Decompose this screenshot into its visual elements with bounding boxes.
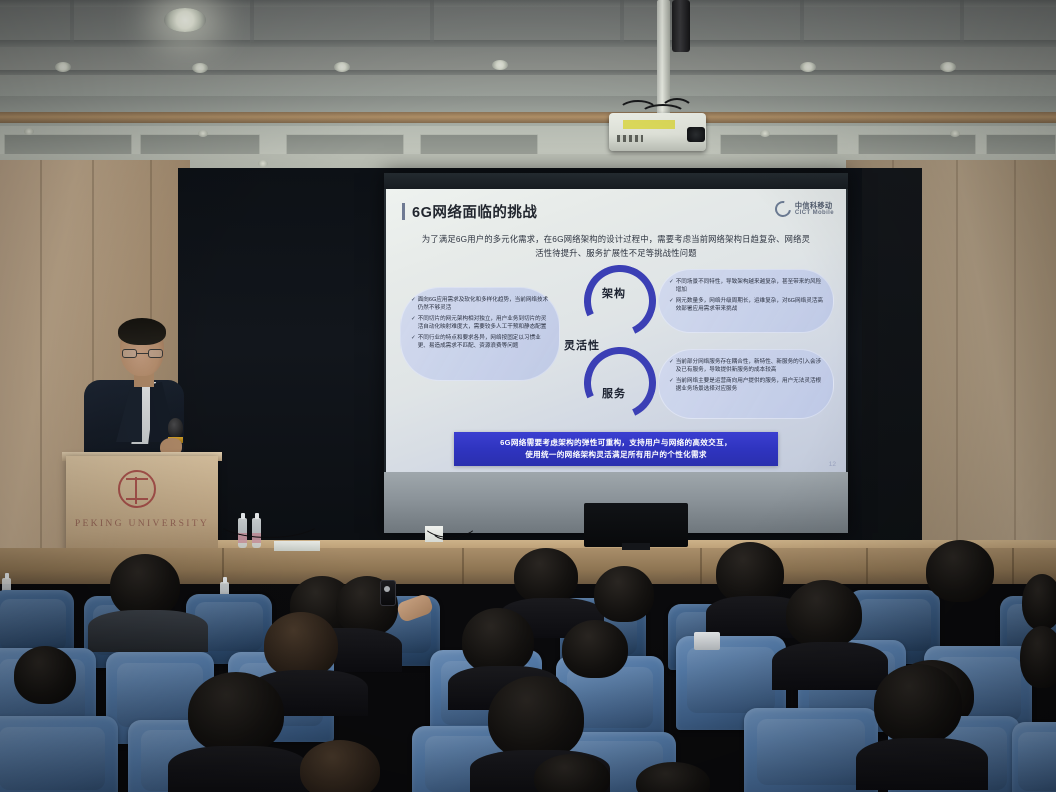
- lecture-hall-photo: 6G网络面临的挑战 中信科移动 CICT Mobile 为了满足6G用户的多元化…: [0, 0, 1056, 792]
- projection-screen: 6G网络面临的挑战 中信科移动 CICT Mobile 为了满足6G用户的多元化…: [384, 173, 848, 533]
- audience-shoulders: [168, 746, 308, 792]
- speaker-glasses: [122, 349, 163, 358]
- logo-text-en: CICT Mobile: [795, 210, 834, 216]
- audience-head: [462, 608, 534, 674]
- ceiling-light: [55, 62, 71, 72]
- audience-head: [926, 540, 994, 602]
- logo-text: 中信科移动 CICT Mobile: [795, 202, 834, 216]
- bubble-point-text: 不同切片的网元架构相对独立，用户业务到切片的灵活自动化映射难度大，需要较多人工干…: [418, 315, 549, 332]
- projector-lens: [687, 127, 705, 142]
- flexibility-cycle-diagram: 架构 灵活性 服务: [562, 261, 674, 429]
- check-icon: ✓: [411, 315, 416, 332]
- stage-backdrop-right: [862, 168, 922, 560]
- audience-head: [14, 646, 76, 704]
- wall-fixture: [258, 160, 268, 167]
- bubble-point-text: 当前网络主要是运营商向用户提供的服务，用户无法灵活根据业务场景选择对应服务: [676, 377, 823, 394]
- audience-head: [188, 672, 284, 754]
- smartphone[interactable]: [380, 580, 396, 606]
- podium: PEKING UNIVERSITY: [66, 456, 218, 554]
- diagram-label-service: 服务: [602, 385, 626, 401]
- wall-fixture: [198, 130, 208, 137]
- bubble-right-bottom: ✓当前部分网络服务存在耦合性，新特性、新服务的引入会涉及已有服务，导致提供新服务…: [658, 349, 834, 419]
- audience-head: [874, 664, 962, 744]
- check-icon: ✓: [411, 296, 416, 313]
- wall-fixture: [760, 130, 770, 137]
- audience-head: [594, 566, 654, 622]
- audience-head: [110, 554, 180, 618]
- bubble-point: ✓面向6G应用需求及软化和多样化趋势，当前网络技术仍然不够灵活: [411, 296, 549, 313]
- audience-head: [636, 762, 710, 792]
- podium-label: PEKING UNIVERSITY: [66, 518, 218, 529]
- slide-title: 6G网络面临的挑战: [412, 201, 537, 222]
- audience-shoulders: [856, 738, 988, 790]
- speaker-hair: [118, 318, 166, 345]
- papers-on-table: [274, 541, 320, 551]
- audience-head: [300, 740, 380, 792]
- bubble-point: ✓当前网络主要是运营商向用户提供的服务，用户无法灵活根据业务场景选择对应服务: [669, 377, 823, 394]
- wall-fixture: [950, 130, 960, 137]
- bubble-point: ✓网元数量多，网络升级周期长，运维复杂，对6G网络灵活高效部署应用需求带来挑战: [669, 297, 823, 314]
- projector-cable: [660, 98, 694, 124]
- audience-head: [562, 620, 628, 678]
- laptop-screen[interactable]: [694, 632, 720, 650]
- microphone-head: [168, 418, 183, 437]
- slide-subtitle: 为了满足6G用户的多元化需求，在6G网络架构的设计过程中，需要考虑当前网络架构日…: [420, 233, 812, 260]
- banner-line-1: 6G网络需要考虑架构的弹性可重构，支持用户与网络的高效交互，: [500, 437, 732, 449]
- audience-head: [716, 542, 784, 604]
- ceiling-light: [800, 62, 816, 72]
- auditorium-seat: [0, 716, 118, 792]
- audio-cable: [214, 498, 324, 538]
- screen-top-bar: [384, 173, 848, 189]
- wood-trim: [0, 112, 1056, 123]
- ceiling-light: [192, 63, 208, 73]
- projector-vent: [617, 135, 643, 142]
- bubble-point: ✓不同场景不同特性，导致架构越来越复杂，甚至带来的风险增加: [669, 278, 823, 295]
- slide-title-area: 6G网络面临的挑战: [402, 201, 537, 222]
- audio-cable: [430, 514, 464, 540]
- bubble-point-text: 面向6G应用需求及软化和多样化趋势，当前网络技术仍然不够灵活: [418, 296, 549, 313]
- presentation-slide: 6G网络面临的挑战 中信科移动 CICT Mobile 为了满足6G用户的多元化…: [386, 189, 846, 472]
- audience-head: [488, 676, 584, 760]
- ceiling-light: [940, 62, 956, 72]
- diagram-label-architecture: 架构: [602, 285, 626, 301]
- ceiling-light: [492, 60, 508, 70]
- audience-head: [264, 612, 338, 678]
- bubble-point-text: 不同行业的特点和要求各异，网络按固定以习惯业更、易造成需求不匹配、资源浪费等问题: [418, 334, 549, 351]
- ceiling: [0, 0, 1056, 96]
- bubble-point: ✓当前部分网络服务存在耦合性，新特性、新服务的引入会涉及已有服务，导致提供新服务…: [669, 358, 823, 375]
- audience-head: [786, 580, 862, 648]
- slide-page-number: 12: [829, 461, 836, 468]
- title-accent-bar: [402, 203, 405, 220]
- ceiling-light: [164, 8, 206, 32]
- slide-conclusion-banner: 6G网络需要考虑架构的弹性可重构，支持用户与网络的高效交互， 使用统一的网络架构…: [454, 432, 778, 466]
- audience-shoulders: [772, 642, 888, 690]
- monitor-stand: [622, 543, 650, 550]
- bubble-point: ✓不同切片的网元架构相对独立，用户业务到切片的灵活自动化映射难度大，需要较多人工…: [411, 315, 549, 332]
- bubble-point-text: 网元数量多，网络升级周期长，运维复杂，对6G网络灵活高效部署应用需求带来挑战: [676, 297, 823, 314]
- ceiling-light: [334, 62, 350, 72]
- audience-head: [1022, 574, 1056, 630]
- ceiling-duct: [672, 0, 690, 52]
- auditorium-seat: [1012, 722, 1056, 792]
- audience-shoulders: [88, 610, 208, 652]
- banner-line-2: 使用统一的网络架构灵活满足所有用户的个性化需求: [525, 449, 707, 461]
- cict-mobile-logo: 中信科移动 CICT Mobile: [775, 201, 834, 217]
- bubble-right-top: ✓不同场景不同特性，导致架构越来越复杂，甚至带来的风险增加 ✓网元数量多，网络升…: [658, 269, 834, 333]
- bubble-point: ✓不同行业的特点和要求各异，网络按固定以习惯业更、易造成需求不匹配、资源浪费等问…: [411, 334, 549, 351]
- bubble-point-text: 不同场景不同特性，导致架构越来越复杂，甚至带来的风险增加: [676, 278, 823, 295]
- diagram-label-flexibility: 灵活性: [564, 337, 600, 353]
- stage-monitor: [584, 503, 688, 547]
- logo-text-cn: 中信科移动: [795, 202, 834, 210]
- audience-head: [514, 548, 578, 604]
- audience-head: [1020, 626, 1056, 688]
- bubble-point-text: 当前部分网络服务存在耦合性，新特性、新服务的引入会涉及已有服务，导致提供新服务的…: [676, 358, 823, 375]
- check-icon: ✓: [411, 334, 416, 351]
- bubble-left: ✓面向6G应用需求及软化和多样化趋势，当前网络技术仍然不够灵活 ✓不同切片的网元…: [400, 287, 560, 381]
- architecture-ring-icon: [574, 255, 666, 347]
- wall-fixture: [24, 128, 34, 135]
- cict-swirl-icon: [772, 198, 794, 220]
- peking-university-seal-icon: [118, 470, 156, 512]
